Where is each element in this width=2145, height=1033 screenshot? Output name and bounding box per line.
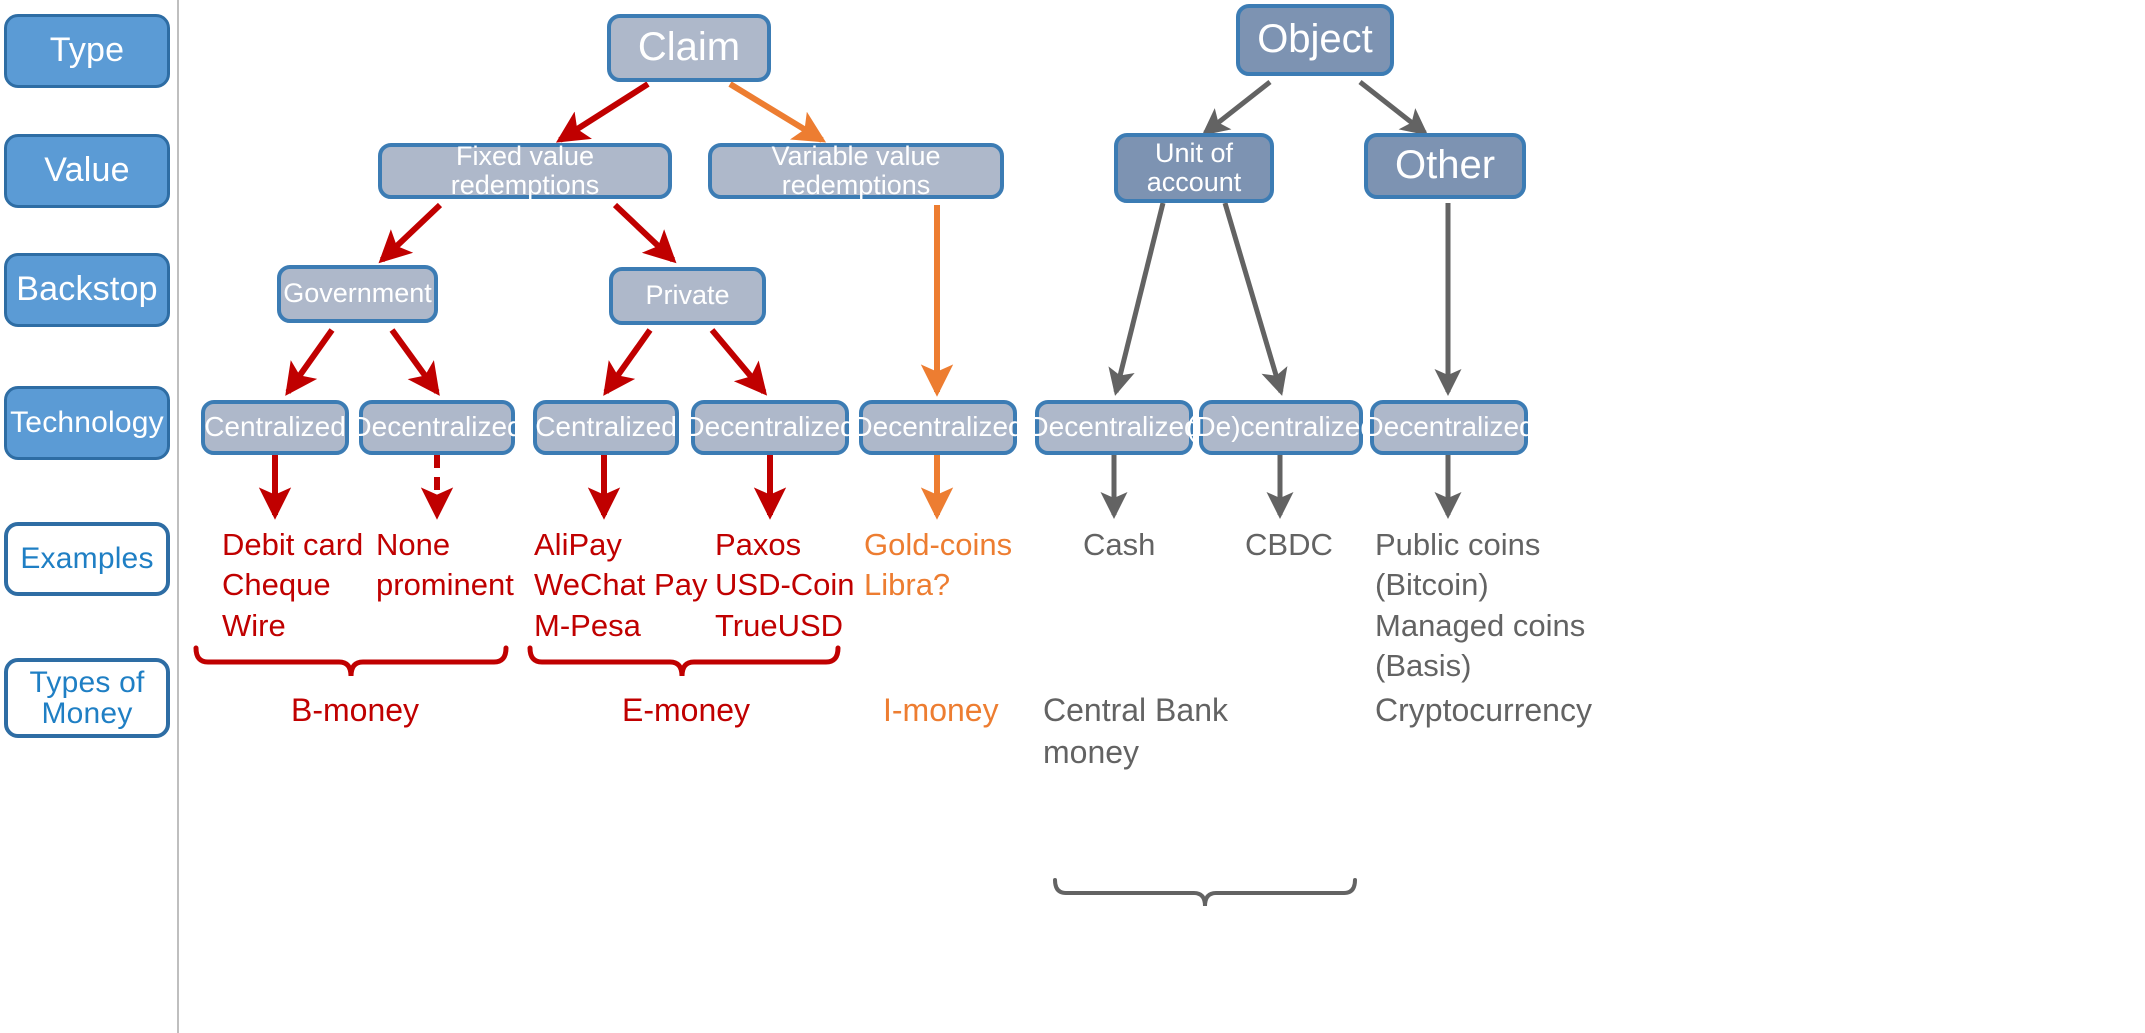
node-private[interactable]: Private bbox=[609, 267, 766, 325]
node-tech-uoa-decentralized[interactable]: Decentralized bbox=[1035, 400, 1193, 455]
money-type-central-bank-money: Central Bank money bbox=[1043, 690, 1323, 773]
edge-fixed-to-private bbox=[615, 205, 673, 260]
edge-government-to-centralized bbox=[288, 330, 332, 392]
row-label-value: Value bbox=[4, 134, 170, 208]
row-label-backstop: Backstop bbox=[4, 253, 170, 327]
edge-fixed-to-government bbox=[382, 205, 440, 260]
node-fixed-value-redemptions[interactable]: Fixed value redemptions bbox=[378, 143, 672, 199]
edge-uoa-to-decentralized-alt bbox=[1225, 203, 1281, 392]
edge-government-to-decentralized bbox=[392, 330, 437, 392]
node-tech-priv-centralized[interactable]: Centralized bbox=[533, 400, 679, 455]
node-tech-variable-decentralized[interactable]: Decentralized bbox=[859, 400, 1017, 455]
diagram-canvas: Type Value Backstop Technology Examples … bbox=[0, 0, 2145, 1033]
node-tech-uoa-decentralized-alt[interactable]: (De)centralized bbox=[1199, 400, 1363, 455]
node-government[interactable]: Government bbox=[277, 265, 438, 323]
example-cbdc: CBDC bbox=[1245, 525, 1385, 565]
node-other[interactable]: Other bbox=[1364, 133, 1526, 199]
node-claim[interactable]: Claim bbox=[607, 14, 771, 82]
money-type-cryptocurrency: Cryptocurrency bbox=[1375, 690, 1625, 732]
example-b-decentralized: None prominent bbox=[376, 525, 556, 606]
edge-uoa-to-decentralized bbox=[1116, 203, 1163, 392]
example-e-centralized: AliPay WeChat Pay M-Pesa bbox=[534, 525, 734, 646]
money-type-i-money: I-money bbox=[883, 690, 1063, 732]
example-i-money: Gold-coins Libra? bbox=[864, 525, 1044, 606]
node-tech-other-decentralized[interactable]: Decentralized bbox=[1370, 400, 1528, 455]
edge-private-to-decentralized bbox=[712, 330, 764, 392]
connector-layer bbox=[0, 0, 2145, 1033]
example-b-centralized: Debit card Cheque Wire bbox=[222, 525, 402, 646]
edge-claim-to-variable bbox=[730, 84, 822, 140]
brace-e-money bbox=[530, 648, 838, 676]
example-cryptocurrency: Public coins (Bitcoin) Managed coins (Ba… bbox=[1375, 525, 1605, 686]
node-tech-priv-decentralized[interactable]: Decentralized bbox=[691, 400, 849, 455]
edge-claim-to-fixed bbox=[560, 84, 648, 140]
row-label-examples: Examples bbox=[4, 522, 170, 596]
example-cash: Cash bbox=[1083, 525, 1223, 565]
node-variable-value-redemptions[interactable]: Variable value redemptions bbox=[708, 143, 1004, 199]
node-tech-gov-centralized[interactable]: Centralized bbox=[201, 400, 349, 455]
node-unit-of-account[interactable]: Unit of account bbox=[1114, 133, 1274, 203]
node-tech-gov-decentralized[interactable]: Decentralized bbox=[359, 400, 515, 455]
edge-object-to-other bbox=[1360, 82, 1425, 133]
brace-b-money bbox=[196, 648, 506, 676]
row-label-type: Type bbox=[4, 14, 170, 88]
money-type-e-money: E-money bbox=[622, 690, 802, 732]
row-label-technology: Technology bbox=[4, 386, 170, 460]
node-object[interactable]: Object bbox=[1236, 4, 1394, 76]
brace-central-bank-money bbox=[1055, 880, 1355, 906]
money-type-b-money: B-money bbox=[291, 690, 471, 732]
row-label-types-of-money: Types of Money bbox=[4, 658, 170, 738]
edge-object-to-unit-of-account bbox=[1205, 82, 1270, 133]
edge-private-to-centralized bbox=[606, 330, 650, 392]
